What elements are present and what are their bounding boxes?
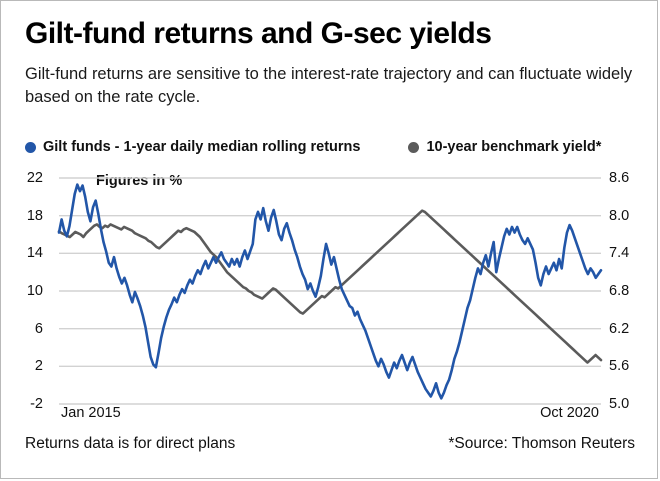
y-axis-left-tick-label: 18 — [27, 208, 43, 224]
footnote-left: Returns data is for direct plans — [25, 435, 235, 453]
y-axis-left-tick-label: 2 — [35, 358, 43, 374]
y-axis-right-tick-label: 8.0 — [609, 208, 629, 224]
infographic-frame: Gilt-fund returns and G-sec yields Gilt-… — [0, 0, 658, 479]
y-axis-left-tick-label: 14 — [27, 245, 43, 261]
y-axis-right-tick-label: 5.6 — [609, 358, 629, 374]
y-axis-left-tick-label: -2 — [30, 396, 43, 412]
y-axis-left-tick-label: 10 — [27, 283, 43, 299]
y-axis-left-tick-label: 22 — [27, 170, 43, 186]
x-axis-tick-start: Jan 2015 — [61, 405, 121, 421]
footnote-right: *Source: Thomson Reuters — [448, 435, 635, 453]
y-axis-right-tick-label: 6.8 — [609, 283, 629, 299]
y-axis-right-tick-label: 8.6 — [609, 170, 629, 186]
x-axis-tick-end: Oct 2020 — [540, 405, 599, 421]
y-axis-right-tick-label: 6.2 — [609, 321, 629, 337]
y-axis-right-tick-label: 7.4 — [609, 245, 629, 261]
y-axis-right-tick-label: 5.0 — [609, 396, 629, 412]
y-axis-left-tick-label: 6 — [35, 321, 43, 337]
